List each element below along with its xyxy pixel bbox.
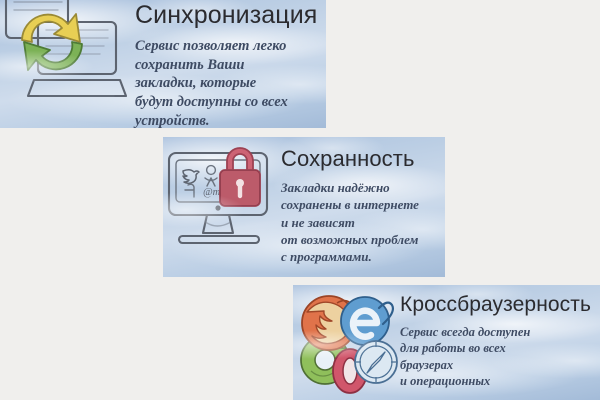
internet-explorer-icon xyxy=(341,297,393,345)
panel-sync: Синхронизация Сервис позволяет легко сох… xyxy=(0,0,326,128)
monitor-padlock-icon: @mail.ru xyxy=(163,137,281,277)
twitter-bird-icon xyxy=(183,170,199,184)
panel-cross-line-2: для работы во всех xyxy=(400,340,591,356)
panel-sync-line-5: устройств. xyxy=(135,112,317,128)
browser-logos-icon xyxy=(293,285,400,400)
panel-cross-line-4: и операционных xyxy=(400,373,591,389)
panel-sync-inner: Синхронизация Сервис позволяет легко сох… xyxy=(0,0,326,128)
panel-safety-heading: Сохранность xyxy=(281,147,419,170)
panel-cross-line-1: Сервис всегда доступен xyxy=(400,324,591,340)
panel-safety-copy: Сохранность Закладки надёжно сохранены в… xyxy=(281,137,419,265)
panel-safety: @mail.ru Сохранность Закладки надёжно xyxy=(163,137,445,277)
panel-safety-line-3: и не зависят xyxy=(281,214,419,231)
panel-safety-line-1: Закладки надёжно xyxy=(281,179,419,196)
panel-cross-body: Сервис всегда доступен для работы во все… xyxy=(400,324,591,390)
panel-safety-inner: @mail.ru Сохранность Закладки надёжно xyxy=(163,137,445,277)
panel-sync-line-1: Сервис позволяет легко xyxy=(135,37,317,56)
padlock-icon xyxy=(220,148,260,206)
panel-cross-heading: Кроссбраузерность xyxy=(400,294,591,316)
panel-safety-line-2: сохранены в интернете xyxy=(281,196,419,213)
panel-sync-body: Сервис позволяет легко сохранить Ваши за… xyxy=(135,37,317,128)
panel-sync-line-4: будут доступны со всех xyxy=(135,93,317,112)
panel-sync-line-2: сохранить Ваши xyxy=(135,56,317,75)
facebook-icon xyxy=(185,184,194,197)
panel-safety-body: Закладки надёжно сохранены в интернете и… xyxy=(281,179,419,265)
panel-cross-line-3: браузерах xyxy=(400,357,591,373)
infographic-stage: Синхронизация Сервис позволяет легко сох… xyxy=(0,0,600,400)
panel-sync-heading: Синхронизация xyxy=(135,2,317,28)
panel-cross: Кроссбраузерность Сервис всегда доступен… xyxy=(293,285,600,400)
panel-cross-inner: Кроссбраузерность Сервис всегда доступен… xyxy=(293,285,600,400)
panel-sync-line-3: закладки, которые xyxy=(135,74,317,93)
panel-safety-line-4: от возможных проблем xyxy=(281,231,419,248)
laptop-sync-icon xyxy=(0,0,135,128)
panel-cross-copy: Кроссбраузерность Сервис всегда доступен… xyxy=(400,285,591,390)
odnoklassniki-icon xyxy=(205,166,217,186)
panel-safety-line-5: с программами. xyxy=(281,248,419,265)
panel-sync-copy: Синхронизация Сервис позволяет легко сох… xyxy=(135,0,317,128)
safari-icon xyxy=(355,341,397,383)
